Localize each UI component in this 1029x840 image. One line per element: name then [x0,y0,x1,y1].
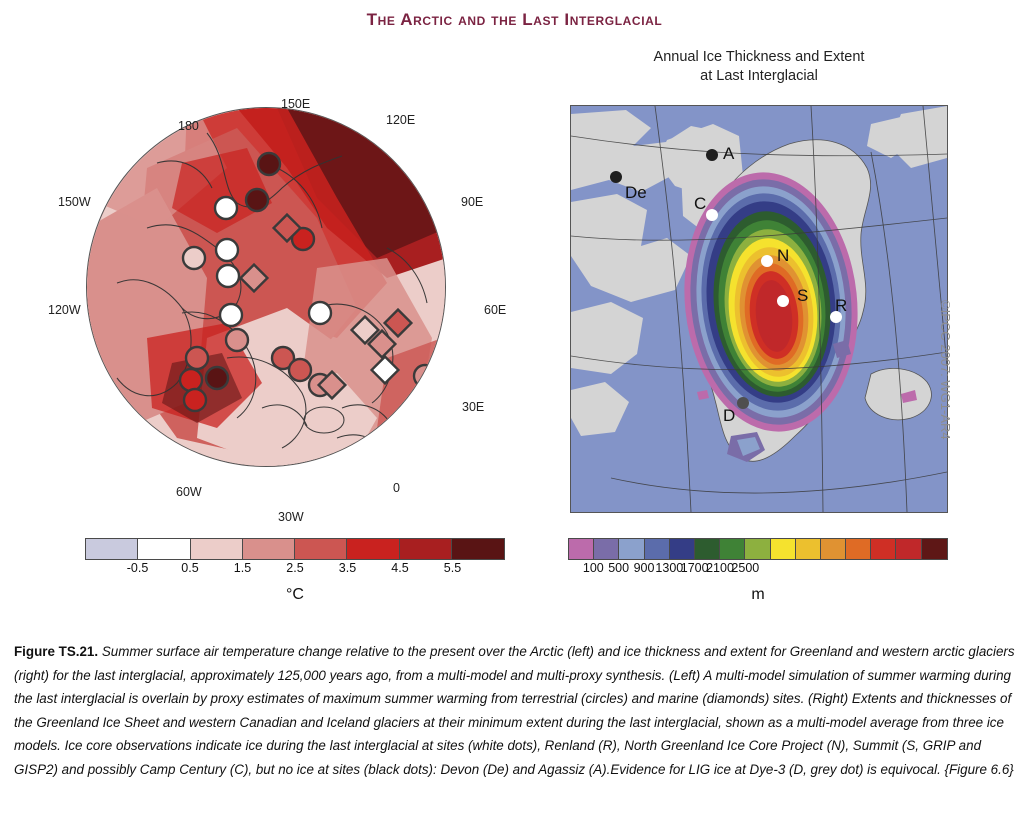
greenland-map-svg [571,106,947,512]
ice-core-site-dot-S [777,295,789,307]
proxy-marker-circle [414,365,436,387]
ice-core-site-label-N: N [777,246,789,266]
ice-colorbar-swatch [745,539,770,559]
ice-colorbar-swatch [594,539,619,559]
ice-colorbar-swatch [720,539,745,559]
ice-core-site-label-D: D [723,406,735,426]
proxy-marker-circle [183,247,205,269]
proxy-marker-circle [226,329,248,351]
right-panel-title-line1: Annual Ice Thickness and Extent [570,48,948,67]
temperature-colorbar-tick-label: 2.5 [286,561,303,575]
ice-colorbar-tick-label: 900 [634,561,655,575]
ice-colorbar-tick-label: 2100 [706,561,734,575]
ice-colorbar-swatch [796,539,821,559]
longitude-label: 60W [176,485,202,499]
temperature-colorbar-ticks: -0.50.51.52.53.54.55.5 [85,560,505,578]
ice-colorbar-tick-label: 100 [583,561,604,575]
ice-colorbar-swatch [871,539,896,559]
proxy-marker-circle [217,265,239,287]
temperature-colorbar-tick-label: 4.5 [391,561,408,575]
ice-core-site-label-A: A [723,144,734,164]
ice-thickness-colorbar: 1005009001300170021002500 m [568,538,948,604]
ice-core-site-dot-A [706,149,718,161]
longitude-label: 120W [48,303,81,317]
ice-colorbar-tick-label: 2500 [731,561,759,575]
arctic-map-svg [87,108,446,467]
longitude-label: 30E [462,400,484,414]
right-panel-title-line2: at Last Interglacial [570,67,948,86]
ice-colorbar-swatch [821,539,846,559]
caption-label: Figure TS.21. [14,644,98,659]
longitude-label: 0 [393,481,400,495]
ice-colorbar-swatch [846,539,871,559]
figure-caption: Figure TS.21. Summer surface air tempera… [14,640,1016,781]
temperature-colorbar-swatch [138,539,190,559]
temperature-colorbar-swatch [347,539,399,559]
proxy-marker-circle [184,389,206,411]
proxy-marker-circle [309,302,331,324]
longitude-label: 150E [281,97,310,111]
temperature-colorbar-swatch [295,539,347,559]
ice-colorbar-ticks: 1005009001300170021002500 [568,560,948,578]
longitude-label: 120E [386,113,415,127]
temperature-colorbar-swatch [452,539,504,559]
arctic-polar-map [86,107,446,467]
temperature-colorbar-swatch [243,539,295,559]
temperature-colorbar-tick-label: 0.5 [181,561,198,575]
temperature-colorbar-tick-label: -0.5 [127,561,149,575]
caption-body: Summer surface air temperature change re… [14,644,1015,777]
ice-core-site-dot-De [610,171,622,183]
proxy-marker-diamond [408,400,435,427]
longitude-label: 180 [178,119,199,133]
arctic-temperature-panel: Arctic Summer Surface Air Temperature Ch… [28,95,508,525]
proxy-marker-circle [246,189,268,211]
temperature-colorbar-swatch [400,539,452,559]
proxy-marker-circle [216,239,238,261]
longitude-label: 150W [58,195,91,209]
greenland-ice-panel: Annual Ice Thickness and Extent at Last … [570,105,948,513]
ice-core-site-dot-N [761,255,773,267]
longitude-label: 30W [278,510,304,524]
ice-core-site-dot-C [706,209,718,221]
temperature-colorbar-tick-label: 1.5 [234,561,251,575]
ice-colorbar-swatch [771,539,796,559]
ice-core-site-label-S: S [797,286,808,306]
temperature-colorbar-swatches [85,538,505,560]
ice-colorbar-swatch [695,539,720,559]
ice-colorbar-tick-label: 500 [608,561,629,575]
temperature-colorbar-unit: °C [85,586,505,604]
temperature-colorbar-tick-label: 5.5 [444,561,461,575]
temperature-colorbar-swatch [191,539,243,559]
proxy-marker-circle [186,347,208,369]
ice-colorbar-tick-label: 1700 [681,561,709,575]
proxy-marker-circle [180,369,202,391]
ice-colorbar-swatch [670,539,695,559]
figure-title: The Arctic and the Last Interglacial [0,10,1029,30]
ice-core-site-label-R: R [835,296,847,316]
proxy-marker-circle [206,367,228,389]
ice-colorbar-swatch [645,539,670,559]
proxy-marker-circle [258,153,280,175]
proxy-marker-diamond [396,423,423,450]
ice-colorbar-tick-label: 1300 [655,561,683,575]
ice-colorbar-unit: m [568,586,948,604]
temperature-colorbar-swatch [86,539,138,559]
ice-colorbar-swatch [922,539,947,559]
greenland-map: ADeCNSRD [570,105,948,513]
ice-core-site-dot-D [737,397,749,409]
ice-colorbar-swatch [569,539,594,559]
ice-core-site-label-C: C [694,194,706,214]
ice-colorbar-swatches [568,538,948,560]
temperature-colorbar: -0.50.51.52.53.54.55.5 °C [85,538,505,604]
longitude-label: 60E [484,303,506,317]
temperature-colorbar-tick-label: 3.5 [339,561,356,575]
copyright-notice: ©IPCC 2007: WG1-AR4 [938,300,953,440]
longitude-label: 90E [461,195,483,209]
proxy-marker-circle [215,197,237,219]
right-panel-title: Annual Ice Thickness and Extent at Last … [570,48,948,86]
ice-colorbar-swatch [896,539,921,559]
proxy-marker-circle [289,359,311,381]
ice-colorbar-swatch [619,539,644,559]
proxy-marker-circle [421,457,443,467]
proxy-marker-circle [421,402,443,424]
ice-core-site-label-De: De [625,183,647,203]
proxy-marker-circle [220,304,242,326]
